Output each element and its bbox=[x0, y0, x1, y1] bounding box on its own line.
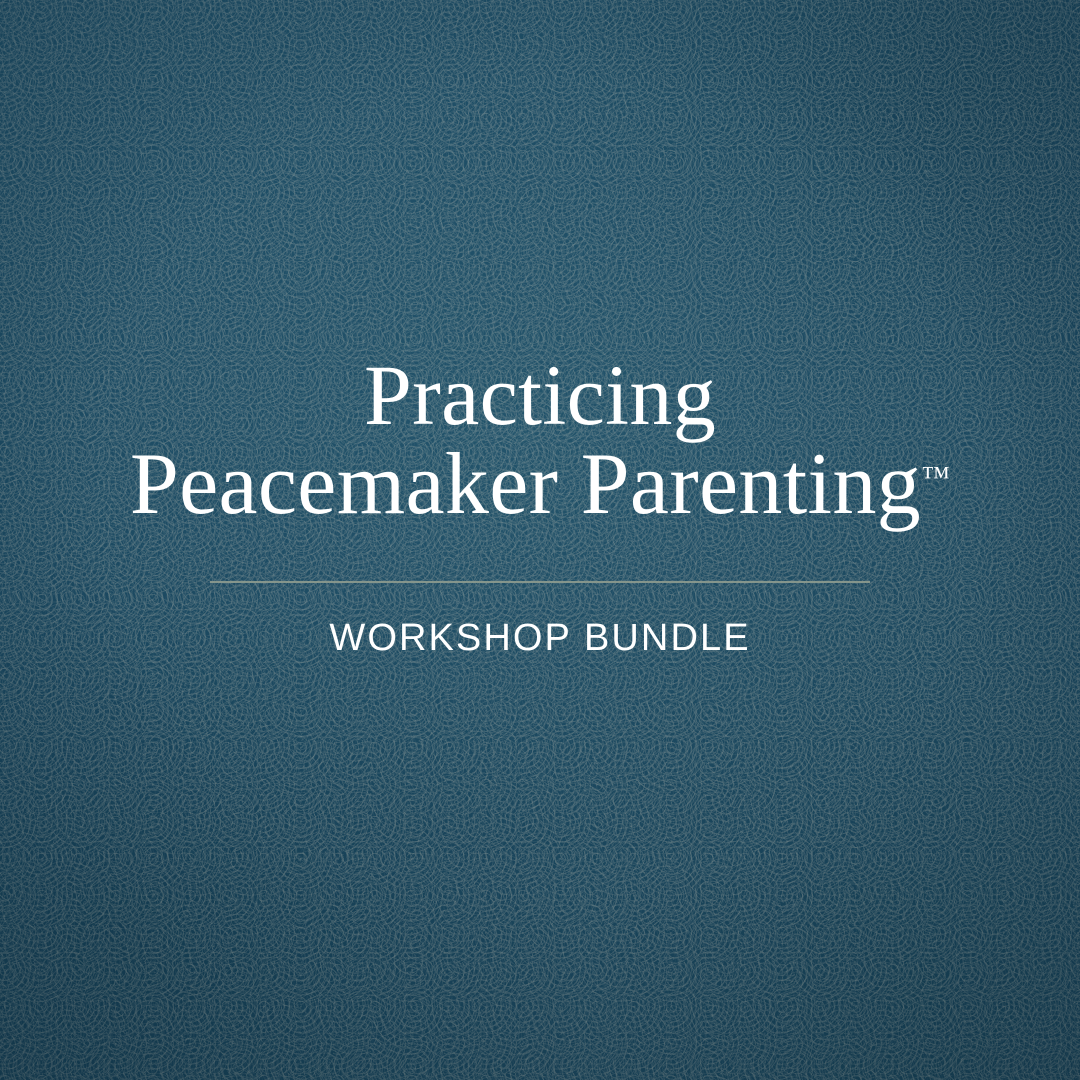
card-content: Practicing Peacemaker Parenting™ WORKSHO… bbox=[0, 0, 1080, 1080]
trademark-icon: ™ bbox=[921, 461, 950, 493]
title-block: Practicing Peacemaker Parenting™ bbox=[40, 352, 1040, 529]
divider-rule bbox=[210, 581, 870, 583]
title-line-one: Practicing bbox=[40, 352, 1040, 440]
promo-card: Practicing Peacemaker Parenting™ WORKSHO… bbox=[0, 0, 1080, 1080]
page-title: Practicing Peacemaker Parenting™ bbox=[40, 352, 1040, 529]
title-line-two: Peacemaker Parenting™ bbox=[40, 440, 1040, 530]
title-line-two-text: Peacemaker Parenting bbox=[130, 436, 921, 533]
subtitle: WORKSHOP BUNDLE bbox=[329, 619, 750, 657]
